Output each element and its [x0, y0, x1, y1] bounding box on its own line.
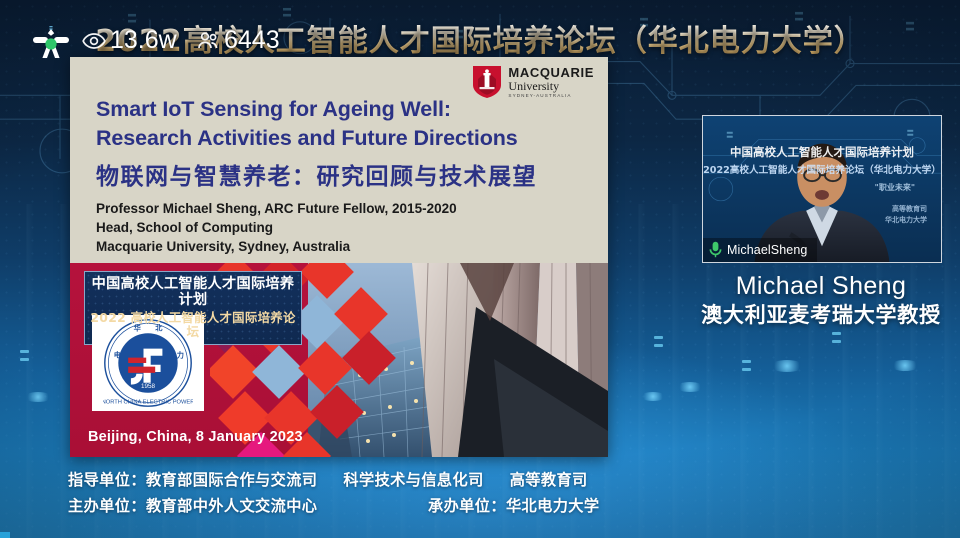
footer-host-value: 教育部中外人文交流中心	[146, 497, 317, 515]
author-line-2: Head, School of Computing	[96, 218, 457, 237]
participant-count: 6443	[196, 26, 280, 55]
slide-upper-area: MACQUARIE University SYDNEY-AUSTRALIA Sm…	[70, 57, 608, 263]
footer-guidance-item2: 科学技术与信息化司	[343, 471, 483, 489]
view-count-value: 13.6w	[110, 26, 177, 55]
slide-title-line1: Smart IoT Sensing for Ageing Well:	[96, 95, 586, 124]
video-backdrop-line2: 2022高校人工智能人才国际培养论坛（华北电力大学）	[703, 162, 941, 176]
footer-host-row: 主办单位：教育部中外人文交流中心	[68, 494, 317, 516]
slide-place-date: Beijing, China, 8 January 2023	[88, 429, 303, 445]
macquarie-university-logo: MACQUARIE University SYDNEY-AUSTRALIA	[472, 65, 594, 99]
program-banner-line1: 中国高校人工智能人才国际培养计划	[85, 276, 301, 309]
participant-count-value: 6443	[224, 26, 280, 55]
slide-title-chinese: 物联网与智慧养老：研究回顾与技术展望	[96, 157, 537, 191]
program-banner: 中国高校人工智能人才国际培养计划 2022 高校人工智能人才国际培养论坛	[84, 271, 302, 345]
speaker-name-en: Michael Sheng	[690, 272, 952, 301]
presentation-slide[interactable]: MACQUARIE University SYDNEY-AUSTRALIA Sm…	[70, 57, 608, 457]
footer-guidance-item3: 高等教育司	[510, 471, 588, 489]
seal-ring-text: NORTH CHINA ELECTRIC POWER	[103, 400, 193, 406]
svg-text:力: 力	[177, 351, 184, 360]
seal-year: 1958	[141, 383, 156, 390]
footer-guidance-label: 指导单位：	[68, 471, 146, 489]
author-line-3: Macquarie University, Sydney, Australia	[96, 237, 457, 256]
speaker-title-cn: 澳大利亚麦考瑞大学教授	[690, 303, 952, 327]
macquarie-logo-sub: University	[508, 80, 594, 92]
participant-name-chip: MichaelSheng	[703, 238, 817, 262]
platform-logo-icon	[30, 26, 72, 62]
footer-host-label: 主办单位：	[68, 497, 146, 515]
author-line-1: Professor Michael Sheng, ARC Future Fell…	[96, 199, 457, 218]
participant-name: MichaelSheng	[727, 243, 807, 257]
footer-organizer-label: 承办单位：	[428, 497, 506, 515]
video-backdrop-line3: "职业未来"	[875, 182, 915, 193]
footer-organizer-row: 承办单位：华北电力大学	[428, 494, 599, 516]
video-backdrop-line1: 中国高校人工智能人才国际培养计划	[703, 144, 941, 160]
live-stream-screen: 13.6w 6443 2022高校人工智能人才国际培养论坛（华北电力大学）	[0, 0, 960, 538]
program-banner-line2: 2022 高校人工智能人才国际培养论坛	[85, 311, 301, 340]
video-backdrop-line4a: 高等教育司	[885, 204, 927, 215]
footer-guidance-row: 指导单位：教育部国际合作与交流司科学技术与信息化司高等教育司	[68, 468, 588, 490]
macquarie-logo-name: MACQUARIE	[508, 66, 594, 79]
bottom-left-indicator	[0, 532, 10, 538]
slide-lower-area: 中国高校人工智能人才国际培养计划 2022 高校人工智能人才国际培养论坛 195…	[70, 263, 608, 457]
footer-organizer-value: 华北电力大学	[506, 497, 600, 515]
video-backdrop-line4b: 华北电力大学	[885, 215, 927, 226]
view-count: 13.6w	[82, 26, 177, 55]
slide-title-line2: Research Activities and Future Direction…	[96, 124, 586, 153]
footer-guidance-item1: 教育部国际合作与交流司	[146, 471, 317, 489]
speaker-video-tile[interactable]: 中国高校人工智能人才国际培养计划 2022高校人工智能人才国际培养论坛（华北电力…	[702, 115, 942, 263]
slide-author-block: Professor Michael Sheng, ARC Future Fell…	[96, 199, 457, 256]
svg-text:电: 电	[114, 351, 122, 360]
video-backdrop-line4: 高等教育司 华北电力大学	[885, 204, 927, 225]
microphone-icon	[709, 241, 722, 258]
people-icon	[196, 29, 220, 53]
speaker-caption: Michael Sheng 澳大利亚麦考瑞大学教授	[690, 272, 952, 327]
slide-title: Smart IoT Sensing for Ageing Well: Resea…	[96, 95, 586, 152]
macquarie-shield-icon	[472, 65, 502, 99]
eye-icon	[82, 29, 106, 53]
